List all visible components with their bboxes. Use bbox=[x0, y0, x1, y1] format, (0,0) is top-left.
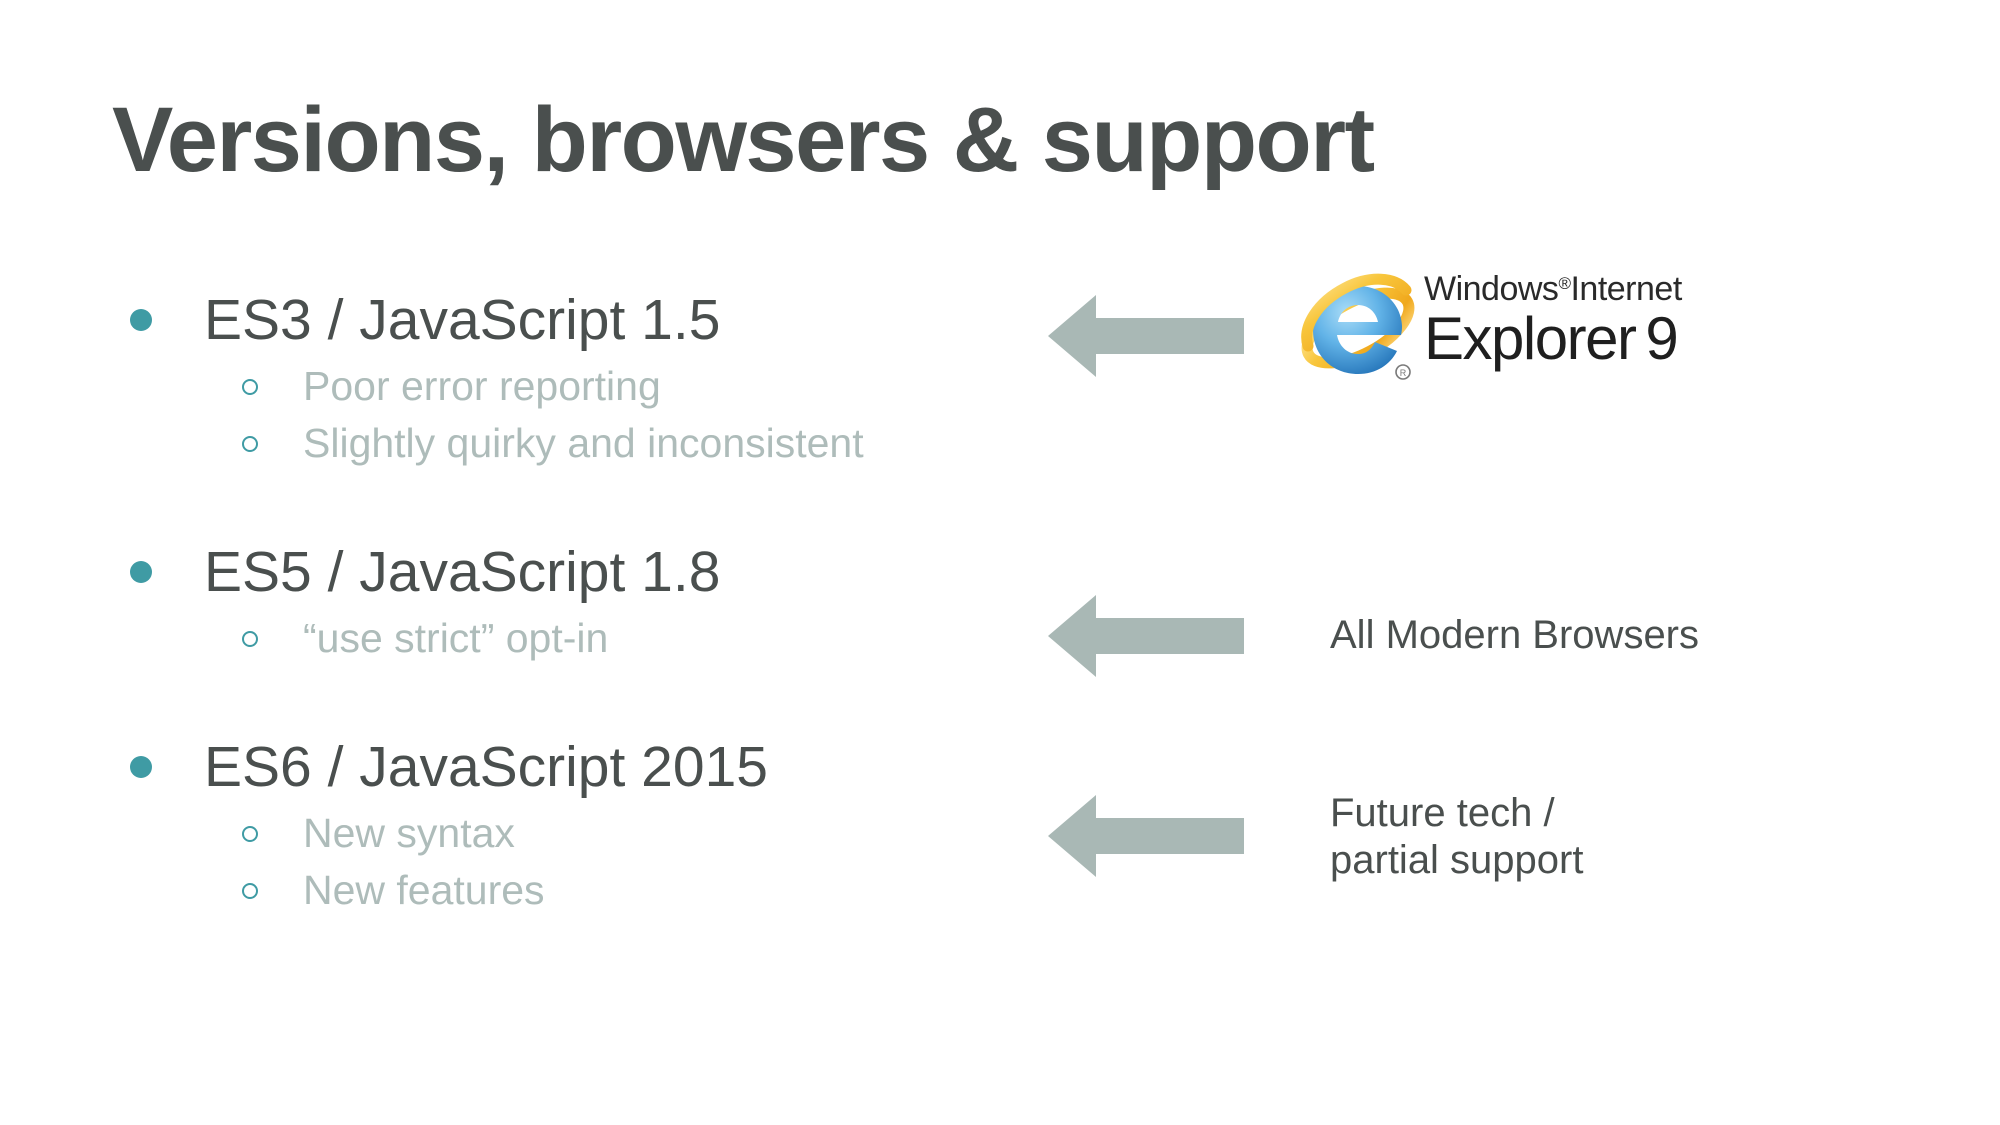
internet-explorer-wordmark: Windows®Internet Explorer9 bbox=[1424, 272, 1764, 369]
left-arrow-icon bbox=[1048, 595, 1244, 677]
bullet-item-es5: ES5 / JavaScript 1.8 bbox=[130, 534, 990, 610]
internet-explorer-9-logo: R Windows®Internet Explorer9 bbox=[1300, 272, 1760, 387]
bullet-label: ES3 / JavaScript 1.5 bbox=[204, 292, 720, 349]
ie-windows-text: Windows bbox=[1424, 270, 1558, 308]
bullet-group-es5: ES5 / JavaScript 1.8 “use strict” opt-in bbox=[130, 534, 990, 667]
left-arrow-icon bbox=[1048, 295, 1244, 377]
hollow-circle-bullet-icon bbox=[242, 883, 258, 899]
ie-internet-text: Internet bbox=[1570, 270, 1681, 308]
ie-wordmark-line-1: Windows®Internet bbox=[1424, 272, 1764, 308]
hollow-circle-bullet-icon bbox=[242, 436, 258, 452]
sub-bullet-label: Slightly quirky and inconsistent bbox=[303, 423, 864, 464]
sub-bullet-item: New syntax bbox=[242, 805, 990, 862]
ie-version-number: 9 bbox=[1645, 305, 1677, 372]
bullet-group-es6: ES6 / JavaScript 2015 New syntax New fea… bbox=[130, 729, 990, 919]
sub-bullet-item: “use strict” opt-in bbox=[242, 610, 990, 667]
sub-bullet-label: “use strict” opt-in bbox=[303, 618, 608, 659]
bullet-label: ES6 / JavaScript 2015 bbox=[204, 739, 768, 796]
bullet-list: ES3 / JavaScript 1.5 Poor error reportin… bbox=[130, 282, 990, 919]
ie-wordmark-line-2: Explorer9 bbox=[1424, 309, 1764, 369]
sub-bullet-item: Slightly quirky and inconsistent bbox=[242, 415, 990, 472]
page-title: Versions, browsers & support bbox=[112, 92, 1374, 189]
svg-text:R: R bbox=[1400, 368, 1407, 378]
ie-explorer-text: Explorer bbox=[1424, 305, 1635, 372]
sub-bullet-item: Poor error reporting bbox=[242, 358, 990, 415]
annotation-future-tech: Future tech / partial support bbox=[1330, 790, 1583, 884]
hollow-circle-bullet-icon bbox=[242, 826, 258, 842]
annotation-all-modern-browsers: All Modern Browsers bbox=[1330, 612, 1699, 659]
bullet-item-es3: ES3 / JavaScript 1.5 bbox=[130, 282, 990, 358]
sub-bullet-label: New syntax bbox=[303, 813, 515, 854]
bullet-item-es6: ES6 / JavaScript 2015 bbox=[130, 729, 990, 805]
bullet-group-es3: ES3 / JavaScript 1.5 Poor error reportin… bbox=[130, 282, 990, 472]
bullet-label: ES5 / JavaScript 1.8 bbox=[204, 544, 720, 601]
filled-circle-bullet-icon bbox=[130, 756, 152, 778]
hollow-circle-bullet-icon bbox=[242, 631, 258, 647]
sub-bullet-item: New features bbox=[242, 862, 990, 919]
slide-canvas: Versions, browsers & support ES3 / JavaS… bbox=[0, 0, 2000, 1125]
hollow-circle-bullet-icon bbox=[242, 379, 258, 395]
registered-trademark-icon: ® bbox=[1558, 274, 1570, 293]
left-arrow-icon bbox=[1048, 795, 1244, 877]
sub-bullet-label: Poor error reporting bbox=[303, 366, 661, 407]
internet-explorer-e-icon: R bbox=[1300, 272, 1418, 384]
filled-circle-bullet-icon bbox=[130, 309, 152, 331]
sub-bullet-label: New features bbox=[303, 870, 545, 911]
filled-circle-bullet-icon bbox=[130, 561, 152, 583]
